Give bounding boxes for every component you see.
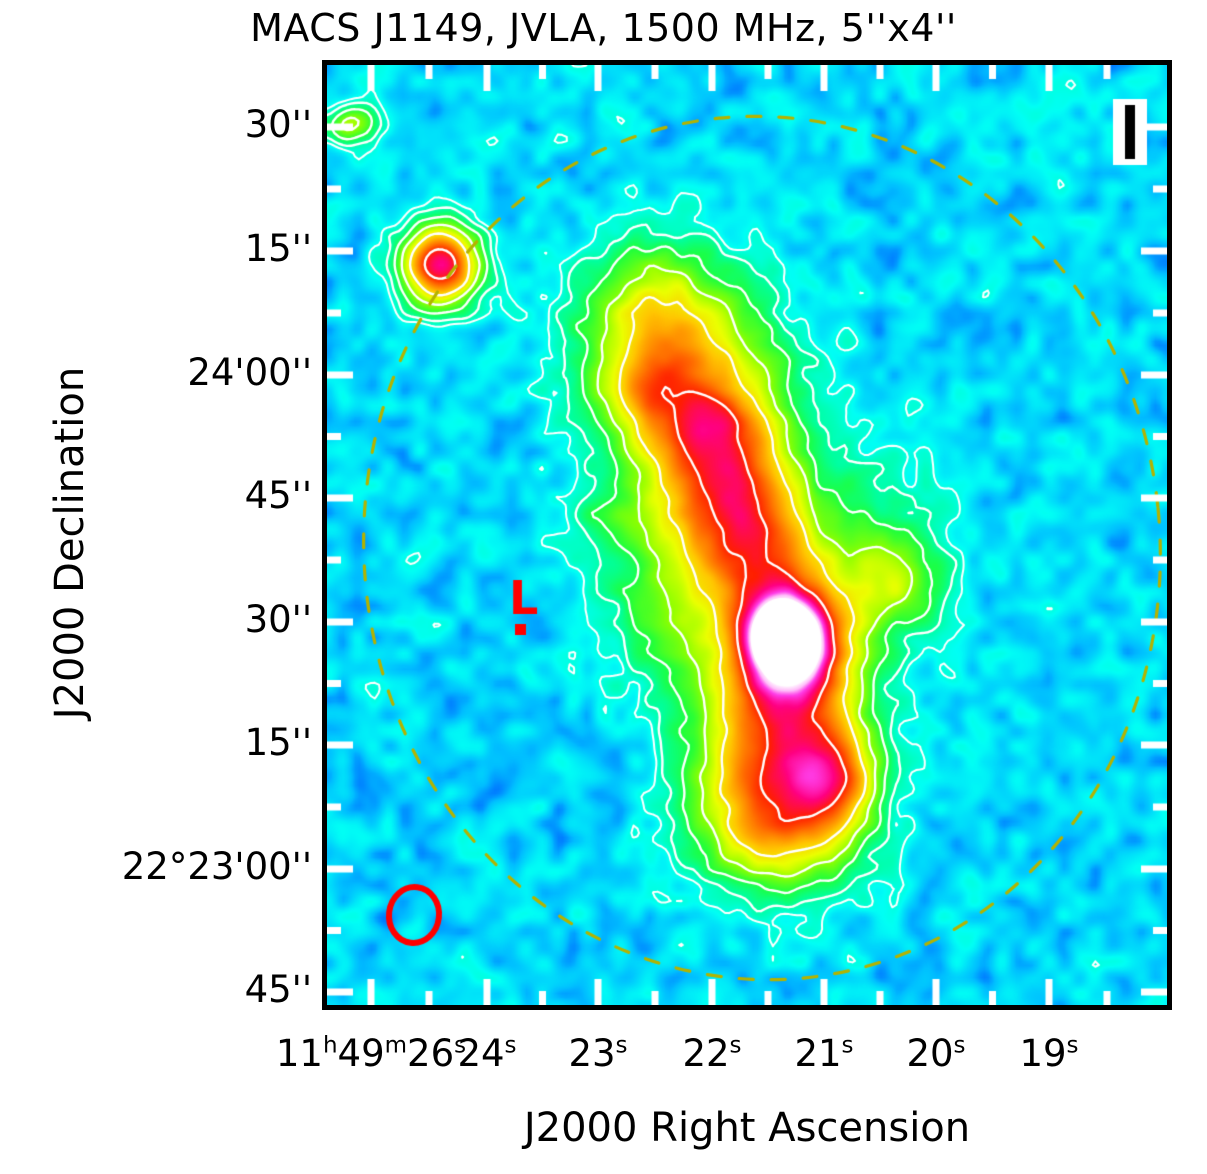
x-tick-label: 23s [568, 1032, 627, 1075]
x-tick-label: 21s [794, 1032, 853, 1075]
x-tick-label: 24s [457, 1032, 516, 1075]
plot-area[interactable] [322, 60, 1172, 1010]
radio-image-canvas [327, 65, 1167, 1005]
x-tick-label: 11h49m26s [276, 1032, 466, 1075]
y-tick-label: 22°23'00'' [12, 845, 312, 888]
y-axis-title: J2000 Declination [47, 243, 93, 843]
figure-title: MACS J1149, JVLA, 1500 MHz, 5''x4'' [0, 6, 1207, 50]
radio-map-figure: MACS J1149, JVLA, 1500 MHz, 5''x4'' 30''… [0, 0, 1207, 1174]
x-tick-label: 22s [682, 1032, 741, 1075]
y-tick-label: 45'' [12, 968, 312, 1011]
x-tick-label: 20s [906, 1032, 965, 1075]
x-axis-title: J2000 Right Ascension [322, 1105, 1172, 1151]
x-tick-label: 19s [1019, 1032, 1078, 1075]
y-tick-label: 30'' [12, 103, 312, 146]
